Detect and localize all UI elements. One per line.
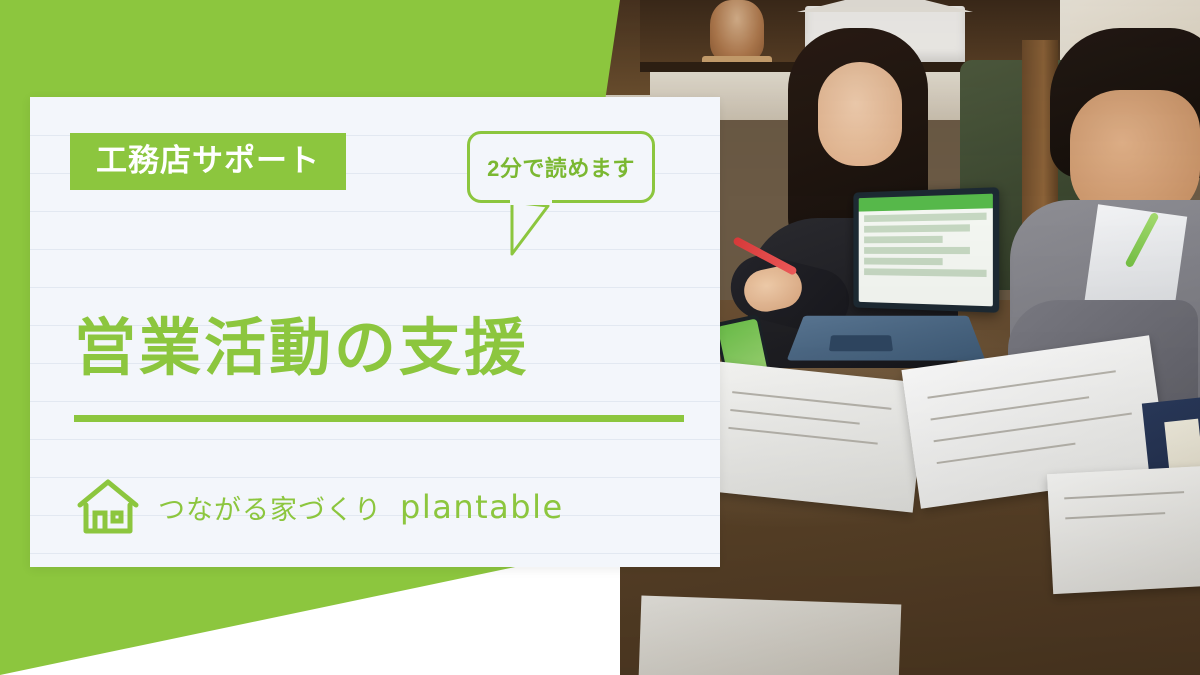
document-text-line bbox=[930, 396, 1089, 420]
document-text-line bbox=[1064, 491, 1184, 499]
tablet-doc-row bbox=[864, 213, 986, 222]
woman-face bbox=[818, 62, 902, 166]
page-title: 営業活動の支援 bbox=[74, 315, 529, 383]
tablet-doc-row bbox=[864, 258, 942, 265]
tablet-doc-row bbox=[864, 224, 970, 232]
tablet-doc-header bbox=[859, 194, 993, 212]
house-icon bbox=[76, 477, 140, 537]
document-text-line bbox=[937, 443, 1076, 464]
figurine-ornament bbox=[710, 0, 764, 62]
document-sheet bbox=[704, 361, 926, 512]
brand-name: plantable bbox=[400, 488, 564, 526]
brand-row: つながる家づくり plantable bbox=[76, 477, 564, 537]
content-card: 工務店サポート 2分で読めます 営業活動の支援 つながる家づくり plantab… bbox=[30, 97, 720, 567]
tablet-doc-row bbox=[864, 268, 986, 277]
tablet-document-view bbox=[859, 194, 993, 307]
laptop-trackpad bbox=[829, 335, 893, 351]
document-text-line bbox=[728, 427, 877, 445]
document-text-line bbox=[934, 412, 1132, 442]
slide-canvas: 工務店サポート 2分で読めます 営業活動の支援 つながる家づくり plantab… bbox=[0, 0, 1200, 675]
brand-tagline: つながる家づくり bbox=[158, 488, 382, 527]
desk-paper-foreground bbox=[639, 595, 902, 675]
document-text-line bbox=[732, 391, 891, 410]
document-text-line bbox=[927, 370, 1115, 398]
tablet-doc-row bbox=[864, 247, 970, 254]
read-time-badge: 2分で読めます bbox=[467, 131, 655, 203]
tablet-screen bbox=[853, 187, 999, 313]
document-text-line bbox=[1065, 512, 1165, 519]
tablet-doc-row bbox=[864, 236, 942, 243]
read-time-badge-label: 2分で読めます bbox=[470, 134, 652, 200]
title-underline bbox=[74, 415, 684, 422]
document-text-line bbox=[730, 409, 859, 425]
category-tag: 工務店サポート bbox=[70, 133, 346, 190]
document-sheet bbox=[1047, 466, 1200, 594]
speech-bubble-tail-icon bbox=[508, 200, 554, 258]
